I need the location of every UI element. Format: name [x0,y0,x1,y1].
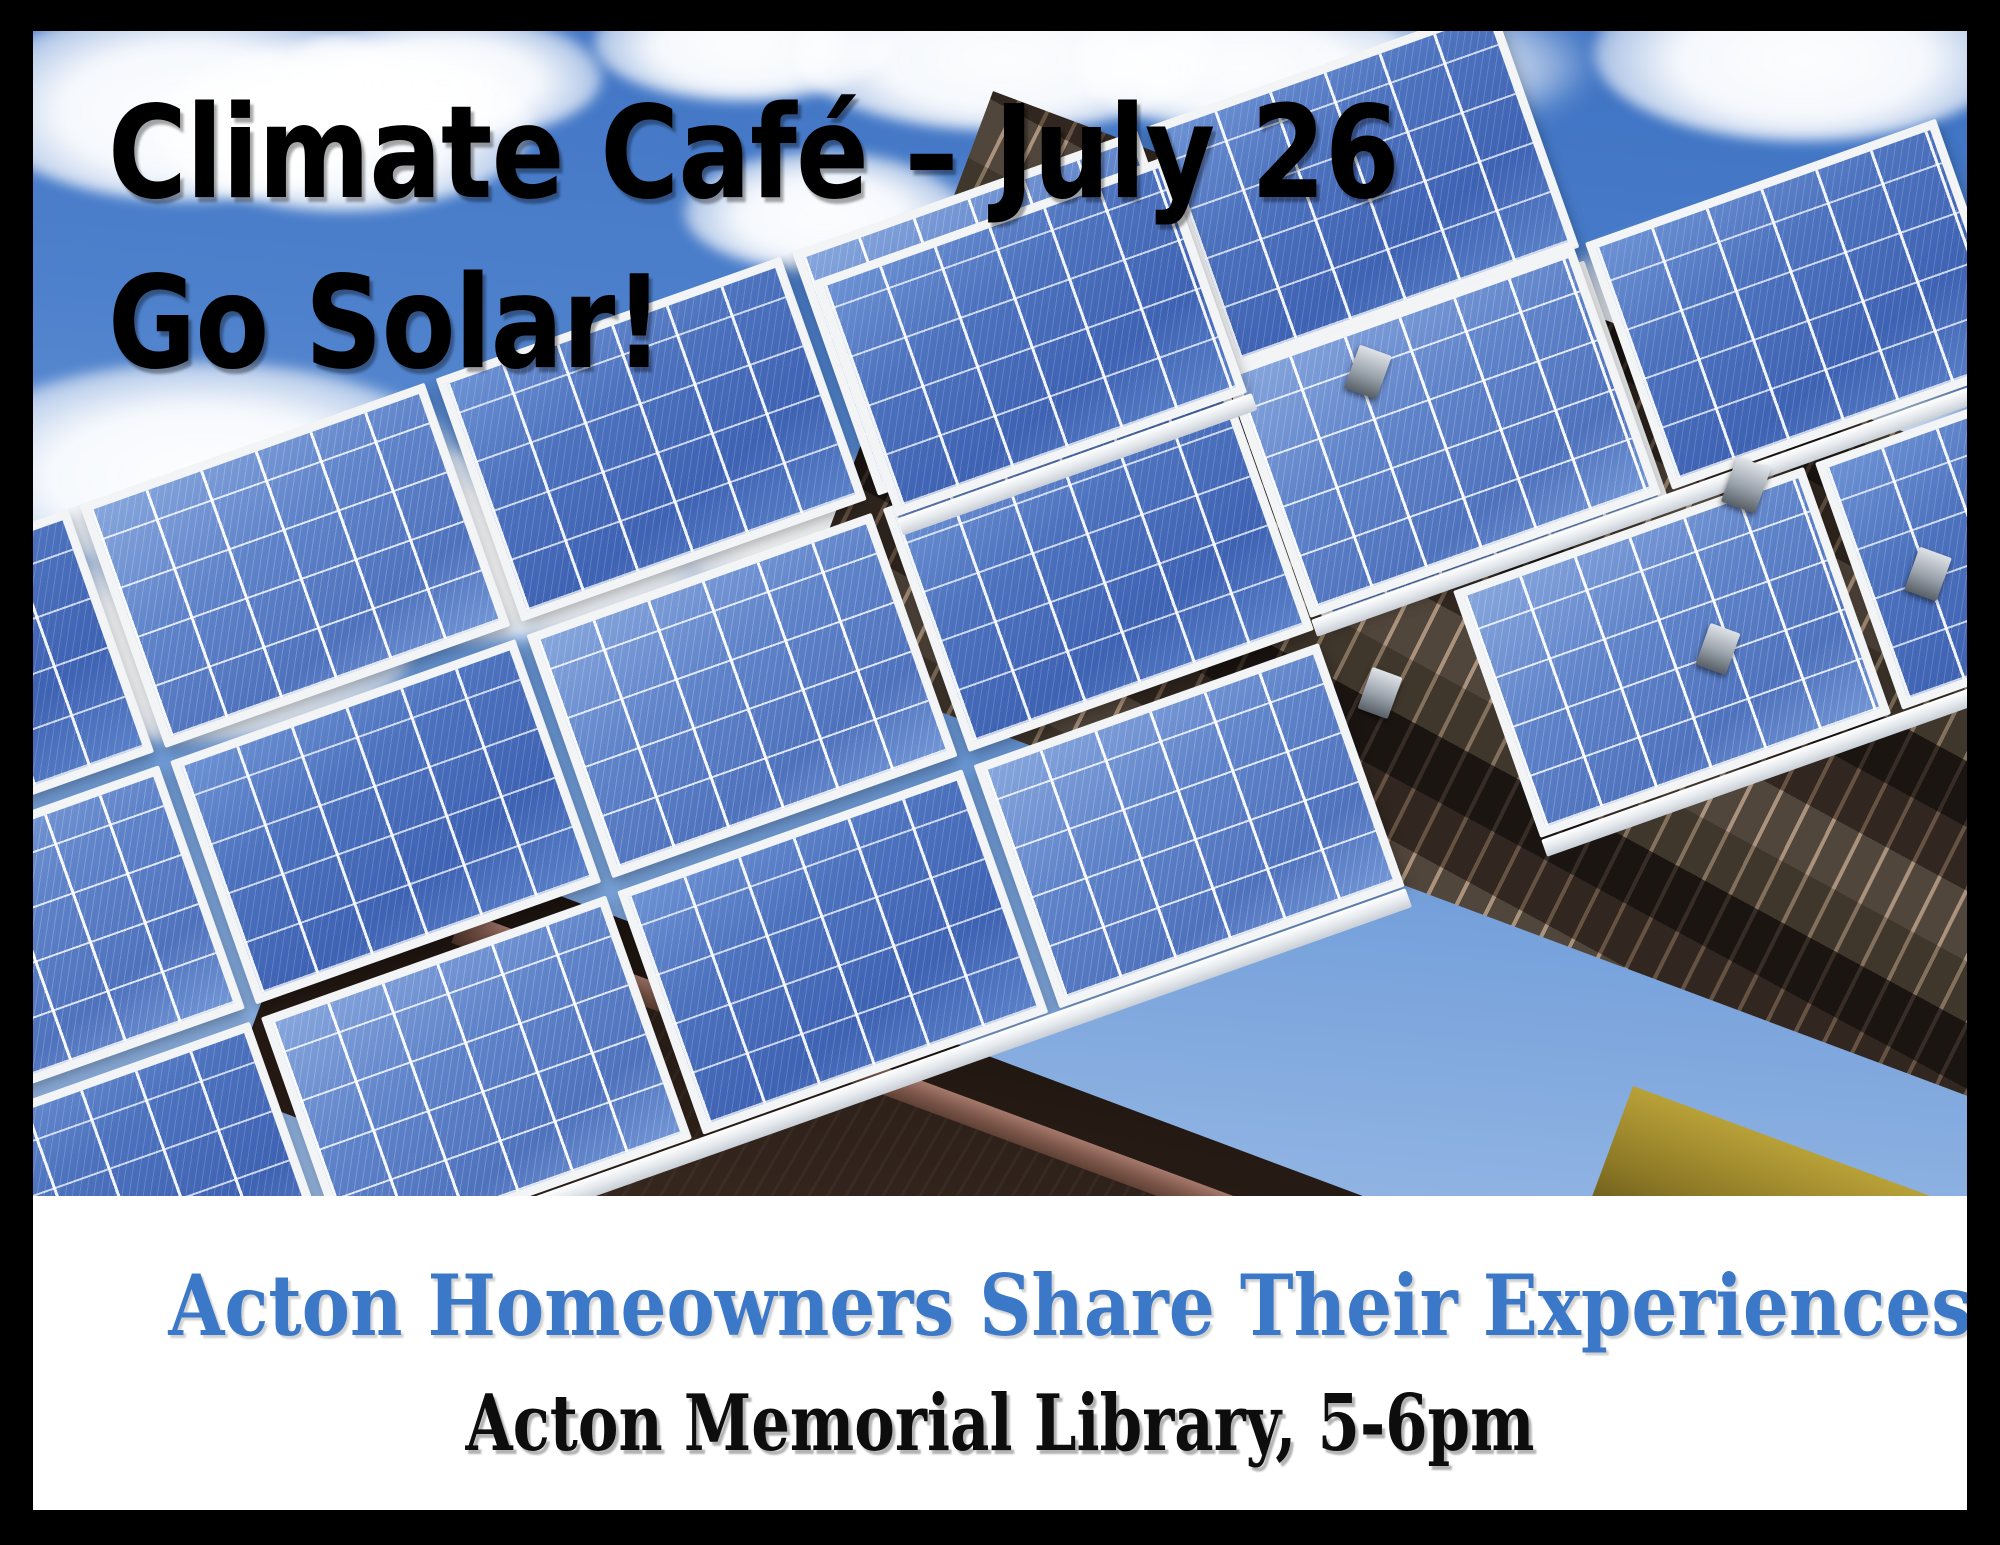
solar-roof-photo: Climate Café – July 26 Go Solar! [33,31,1967,1196]
event-venue-and-time: Acton Memorial Library, 5-6pm [246,1378,1755,1469]
event-subtitle: Acton Homeowners Share Their Experiences [168,1256,1831,1355]
page-title-line-2: Go Solar! [108,249,663,398]
poster-content-frame: Climate Café – July 26 Go Solar! Acton H… [33,31,1967,1510]
page-title-line-1: Climate Café – July 26 [108,79,1399,228]
caption-band: Acton Homeowners Share Their Experiences… [33,1196,1967,1510]
poster-root: Climate Café – July 26 Go Solar! Acton H… [0,0,2000,1545]
